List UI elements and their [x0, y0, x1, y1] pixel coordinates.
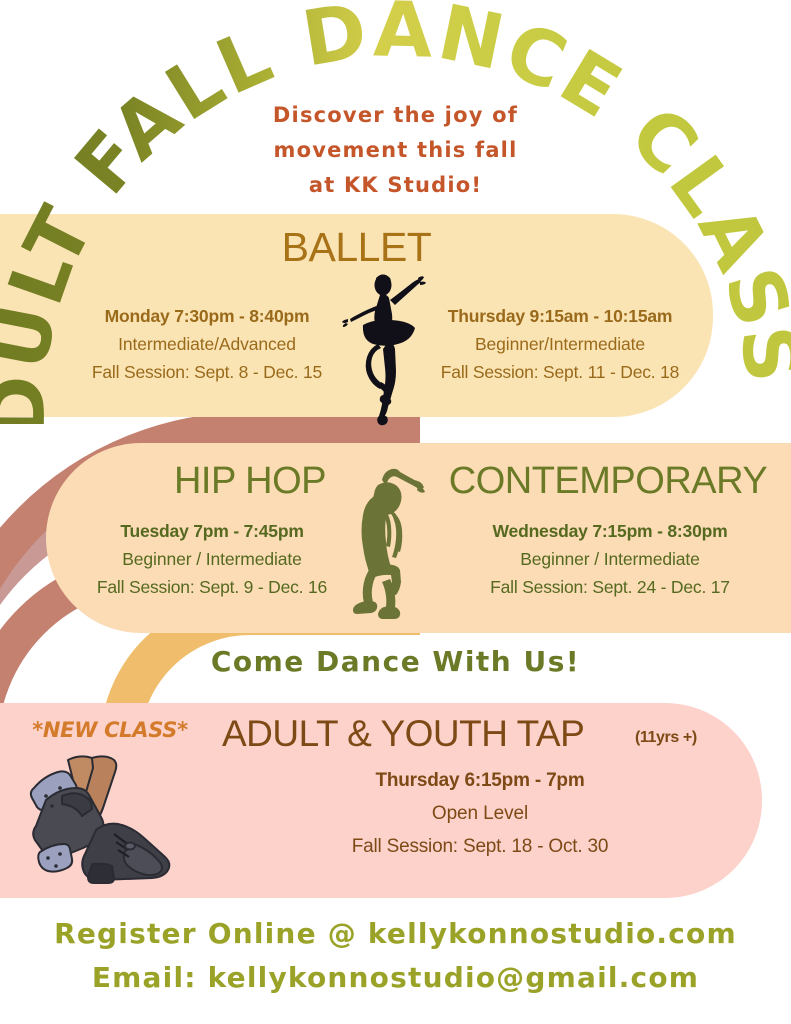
new-class-badge: *NEW CLASS* [10, 718, 210, 742]
ballet-title: BALLET [0, 224, 713, 271]
ballet-right-level: Beginner/Intermediate [400, 334, 720, 355]
tap-class-details: Thursday 6:15pm - 7pm Open Level Fall Se… [230, 770, 730, 858]
tap-shoes-icon [22, 752, 202, 892]
hiphop-class-details: Tuesday 7pm - 7:45pm Beginner / Intermed… [62, 521, 362, 598]
tagline: Discover the joy of movement this fall a… [0, 98, 791, 203]
ballet-right-session: Fall Session: Sept. 11 - Dec. 18 [400, 362, 720, 383]
ballet-left-level: Intermediate/Advanced [62, 334, 352, 355]
tagline-line-1: Discover the joy of [0, 98, 791, 133]
ballet-right-time: Thursday 9:15am - 10:15am [400, 306, 720, 327]
poster-root: BALLET [0, 0, 791, 1024]
hiphop-time: Tuesday 7pm - 7:45pm [62, 521, 362, 542]
contemporary-time: Wednesday 7:15pm - 8:30pm [430, 521, 790, 542]
come-dance-with-us-text: Come Dance With Us! [0, 645, 791, 678]
footer: Register Online @ kellykonnostudio.com E… [0, 912, 791, 1000]
tagline-line-3: at KK Studio! [0, 168, 791, 203]
ballet-class-left: Monday 7:30pm - 8:40pm Intermediate/Adva… [62, 306, 352, 383]
contemporary-level: Beginner / Intermediate [430, 549, 790, 570]
tap-session: Fall Session: Sept. 18 - Oct. 30 [230, 836, 730, 858]
email-text[interactable]: Email: kellykonnostudio@gmail.com [0, 956, 791, 1000]
contemporary-session: Fall Session: Sept. 24 - Dec. 17 [430, 577, 790, 598]
hiphop-session: Fall Session: Sept. 9 - Dec. 16 [62, 577, 362, 598]
ballet-left-time: Monday 7:30pm - 8:40pm [62, 306, 352, 327]
contemporary-title: CONTEMPORARY [425, 460, 791, 503]
tap-level: Open Level [230, 803, 730, 825]
ballet-class-right: Thursday 9:15am - 10:15am Beginner/Inter… [400, 306, 720, 383]
tap-title: ADULT & YOUTH TAP [222, 713, 584, 755]
ballet-left-session: Fall Session: Sept. 8 - Dec. 15 [62, 362, 352, 383]
hiphop-level: Beginner / Intermediate [62, 549, 362, 570]
tap-age-note: (11yrs +) [635, 729, 697, 747]
tagline-line-2: movement this fall [0, 133, 791, 168]
contemporary-class-details: Wednesday 7:15pm - 8:30pm Beginner / Int… [430, 521, 790, 598]
tap-time: Thursday 6:15pm - 7pm [230, 770, 730, 792]
register-online-text[interactable]: Register Online @ kellykonnostudio.com [0, 912, 791, 956]
